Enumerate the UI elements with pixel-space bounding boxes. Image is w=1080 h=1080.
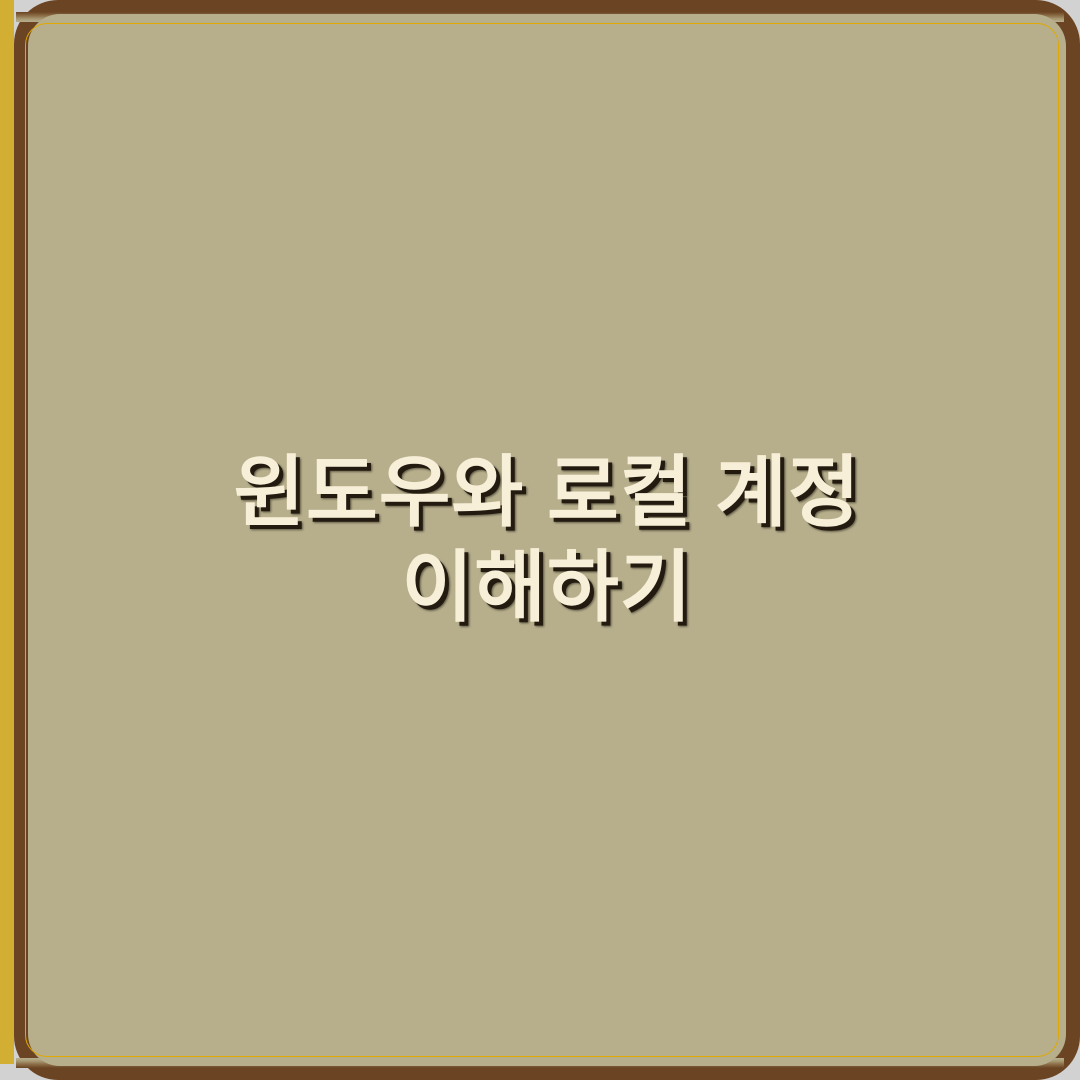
page-title: 윈도우와 로컬 계정 이해하기 [233,445,860,635]
poster-canvas: 윈도우와 로컬 계정 이해하기 [0,0,1080,1080]
title-container: 윈도우와 로컬 계정 이해하기 [28,14,1066,1066]
left-gold-accent-strip [0,0,14,1064]
